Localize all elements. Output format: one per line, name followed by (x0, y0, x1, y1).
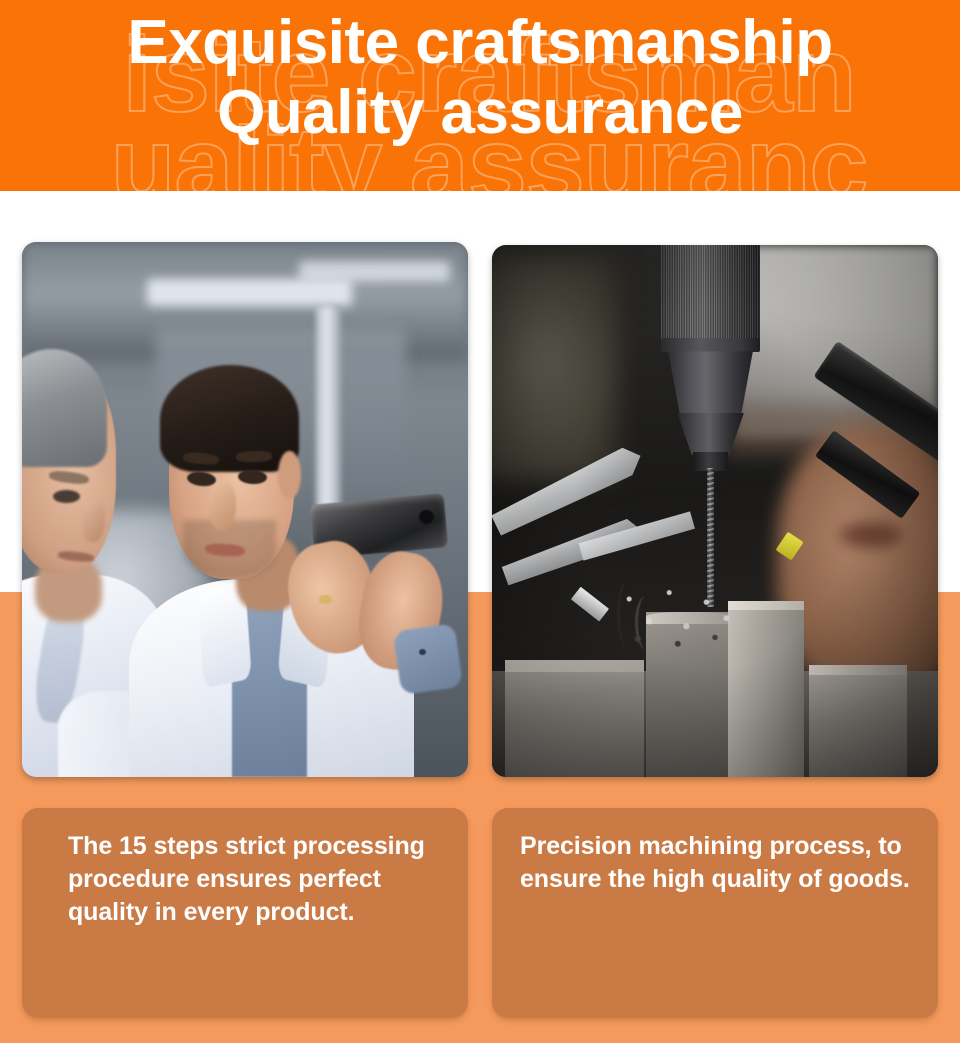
junior-engineer-cuff-button (419, 649, 426, 655)
precision-machining-photo (492, 245, 938, 777)
junior-engineer-ear (278, 451, 300, 499)
junior-engineer-nose (209, 483, 236, 531)
page-title: Exquisite craftsmanship Quality assuranc… (0, 8, 960, 148)
header-banner: isite craftsman uality assuranc Exquisit… (0, 0, 960, 191)
junior-engineer-cuff (392, 623, 463, 695)
page-title-line-1: Exquisite craftsmanship (0, 8, 960, 78)
caption-quality: The 15 steps strict processing procedure… (22, 808, 468, 1018)
wedding-ring (319, 595, 332, 604)
photo-vignette (492, 245, 938, 777)
senior-engineer-eye (53, 490, 80, 503)
senior-engineer-nose (82, 499, 104, 542)
quality-inspection-photo (22, 242, 468, 777)
product-feature-banner: isite craftsman uality assuranc Exquisit… (0, 0, 960, 1043)
quality-inspection-photo-illustration (22, 242, 468, 777)
caption-precision: Precision machining process, to ensure t… (492, 808, 938, 1018)
lab-ceiling-light-2 (299, 261, 451, 282)
junior-engineer-hair (160, 365, 298, 472)
lab-ceiling-light (147, 279, 352, 306)
precision-machining-photo-illustration (492, 245, 938, 777)
page-title-line-2: Quality assurance (0, 78, 960, 148)
caption-quality-text: The 15 steps strict processing procedure… (68, 830, 442, 929)
caption-precision-text: Precision machining process, to ensure t… (520, 830, 912, 896)
junior-engineer-eyebrow-right (236, 450, 272, 462)
